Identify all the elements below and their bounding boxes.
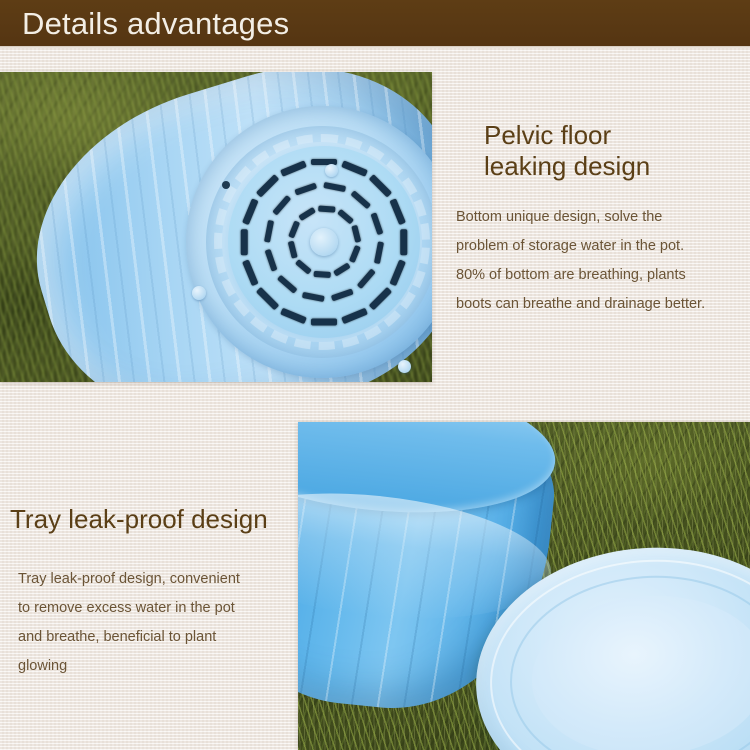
- drain-slot: [294, 183, 317, 196]
- drain-slot: [323, 182, 346, 192]
- drain-slot: [390, 198, 406, 225]
- pot-stud: [192, 286, 206, 300]
- drain-slot: [331, 289, 354, 302]
- drain-slot: [311, 319, 337, 326]
- drain-slot: [242, 198, 258, 225]
- drain-slot: [302, 292, 325, 302]
- pot-stud: [398, 360, 411, 373]
- drain-slot: [280, 160, 307, 176]
- drain-slot: [264, 220, 274, 243]
- drain-slot: [318, 206, 335, 213]
- drain-slot: [333, 263, 350, 277]
- pot-bottom-drainage-photo: [0, 72, 432, 382]
- drain-slot: [369, 287, 392, 310]
- header-divider: [0, 46, 750, 48]
- drain-slot: [272, 195, 291, 216]
- drain-slot: [256, 287, 279, 310]
- drain-slot: [351, 225, 360, 243]
- page-header-bar: Details advantages: [0, 0, 750, 46]
- drain-slot: [298, 207, 315, 221]
- drain-slot: [341, 160, 368, 176]
- drain-slot: [280, 308, 307, 324]
- drain-slot: [341, 308, 368, 324]
- drain-center-hub: [310, 228, 338, 256]
- drain-slot: [288, 221, 299, 239]
- tray-leak-proof-body-text: Tray leak-proof design, convenient to re…: [18, 565, 290, 681]
- drain-slot: [277, 275, 298, 294]
- drain-slot: [256, 174, 279, 197]
- drainage-grate: [228, 146, 420, 338]
- page-title: Details advantages: [22, 5, 289, 43]
- drain-slot: [295, 260, 312, 275]
- drain-slot: [313, 272, 330, 279]
- drain-slot: [265, 249, 278, 272]
- drain-slot: [357, 268, 376, 289]
- drain-slot: [371, 212, 384, 235]
- drain-slot: [390, 259, 406, 286]
- drain-slot: [350, 190, 371, 209]
- drain-slot: [374, 241, 384, 264]
- pelvic-floor-body-text: Bottom unique design, solve the problem …: [456, 203, 750, 319]
- drain-slot: [349, 245, 360, 263]
- drain-slot: [337, 209, 354, 224]
- tray-leak-proof-heading: Tray leak-proof design: [10, 504, 300, 535]
- product-detail-page: Details advantages Pelvic floor leaking …: [0, 0, 750, 750]
- drain-slot: [369, 174, 392, 197]
- pot-and-saucer-photo: [298, 422, 750, 750]
- pot-small-hole: [222, 181, 230, 189]
- pelvic-floor-heading: Pelvic floor leaking design: [484, 120, 746, 182]
- drain-slot: [241, 229, 248, 255]
- drain-slot: [287, 241, 296, 259]
- pot-stud: [325, 164, 338, 177]
- drain-slot: [401, 229, 408, 255]
- drain-slot: [242, 259, 258, 286]
